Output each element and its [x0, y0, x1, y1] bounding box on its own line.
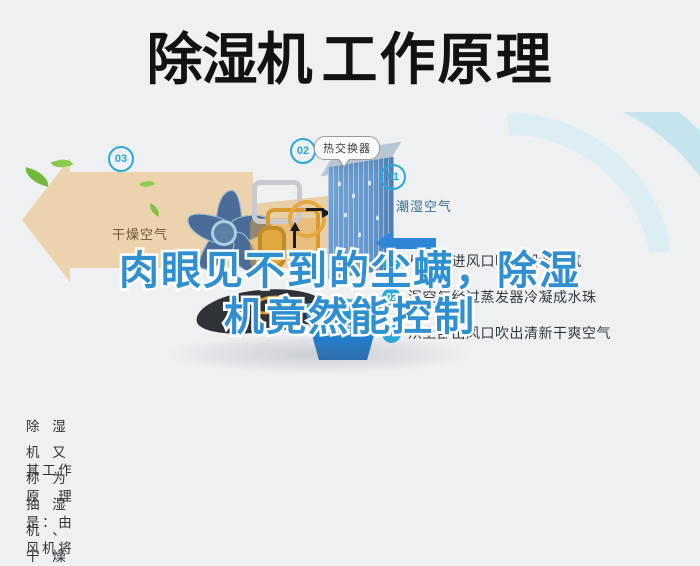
- humid-air-label: 潮湿空气: [396, 196, 452, 215]
- header: 除湿机 工作原理: [0, 0, 700, 120]
- flow-arrow-icon: [290, 222, 300, 231]
- diagram-badge-01: 01: [380, 164, 406, 190]
- heat-exchanger-callout: 热交换器: [314, 136, 380, 160]
- overlay-headline-line2: 机竟然能控制 机竟然能控制: [0, 294, 700, 340]
- diagram-badge-03: 03: [108, 146, 134, 172]
- infographic-page: 除湿机 工作原理 干燥空气: [0, 0, 700, 566]
- overlay-line2-fill: 机竟然能控制: [0, 294, 700, 340]
- overlay-headline-line1: 肉眼见不到的尘螨，除湿 肉眼见不到的尘螨，除湿: [0, 248, 700, 294]
- article-paragraph-1: 除湿机又称为抽湿机、干燥机、除湿器，一般可分为民用除湿机和工业除湿机两大类，属于…: [26, 414, 66, 448]
- overlay-headline: 肉眼见不到的尘螨，除湿 肉眼见不到的尘螨，除湿 机竟然能控制 机竟然能控制: [0, 248, 700, 340]
- overlay-line1-fill: 肉眼见不到的尘螨，除湿: [0, 248, 700, 294]
- article-paragraph-2: 其工作原理是：由风机将潮湿空气抽入机内，通过热交换器，此时空气中的水分子冷凝成水…: [26, 458, 72, 500]
- diagram-badge-02: 02: [290, 138, 316, 164]
- page-title: 除湿机 工作原理: [147, 32, 554, 88]
- flow-arrow-icon: [293, 230, 296, 248]
- article-body: 除湿机又称为抽湿机、干燥机、除湿器，一般可分为民用除湿机和工业除湿机两大类，属于…: [26, 414, 676, 510]
- dry-air-label: 干燥空气: [112, 224, 168, 243]
- page-title-part2: 工作原理: [322, 32, 554, 88]
- page-title-part1: 除湿机: [147, 32, 312, 88]
